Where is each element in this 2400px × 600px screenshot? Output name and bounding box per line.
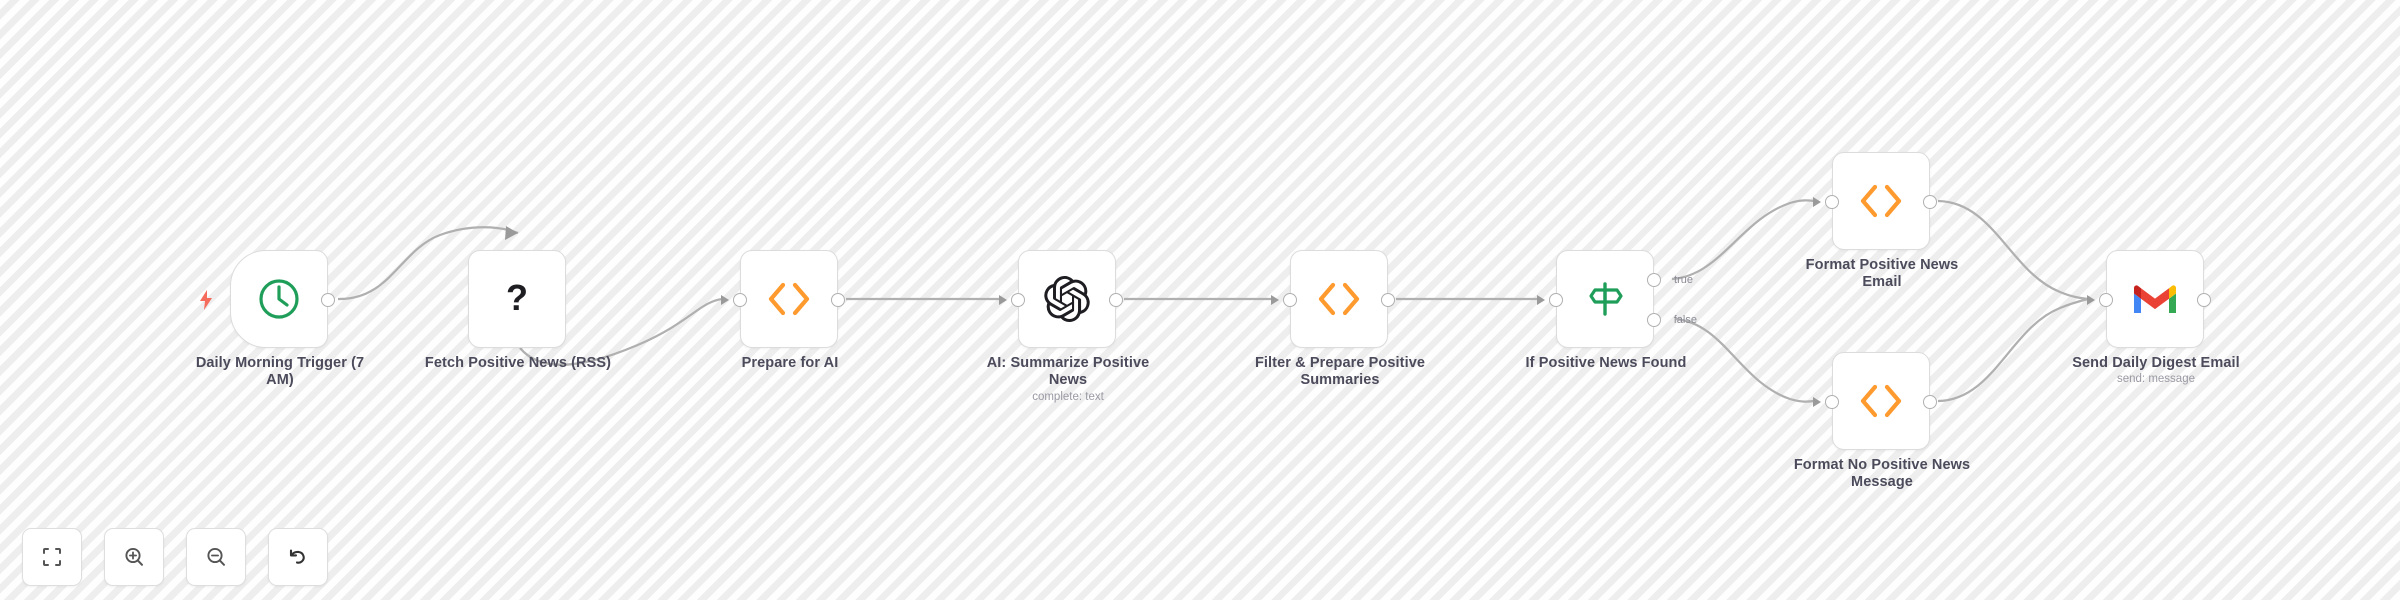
workflow-canvas[interactable]: Daily Morning Trigger (7 AM) ? Fetch Pos… bbox=[0, 0, 2400, 600]
node-prepare-for-ai[interactable]: Prepare for AI bbox=[740, 250, 838, 348]
edge-format-negative-to-gmail bbox=[1938, 299, 2088, 401]
input-endpoint[interactable] bbox=[1283, 293, 1297, 307]
svg-text:?: ? bbox=[506, 277, 528, 318]
question-mark-icon: ? bbox=[490, 272, 544, 326]
node-label: Daily Morning Trigger (7 AM) bbox=[185, 355, 375, 389]
output-endpoint-false[interactable] bbox=[1647, 313, 1661, 327]
zoom-out-icon bbox=[204, 545, 228, 569]
lightning-bolt-icon bbox=[197, 289, 215, 311]
output-endpoint-true[interactable] bbox=[1647, 273, 1661, 287]
node-label: If Positive News Found bbox=[1511, 355, 1701, 372]
input-arrowhead-icon bbox=[721, 295, 729, 305]
zoom-out-button[interactable] bbox=[186, 528, 246, 586]
connection-edges bbox=[0, 0, 2400, 600]
input-endpoint[interactable] bbox=[2099, 293, 2113, 307]
input-arrowhead-icon bbox=[1813, 197, 1821, 207]
zoom-to-fit-icon bbox=[40, 545, 64, 569]
output-endpoint[interactable] bbox=[321, 293, 335, 307]
input-arrowhead-icon bbox=[1537, 295, 1545, 305]
input-endpoint[interactable] bbox=[1549, 293, 1563, 307]
zoom-in-icon bbox=[122, 545, 146, 569]
node-label: Send Daily Digest Email bbox=[2061, 355, 2251, 372]
input-endpoint[interactable] bbox=[733, 293, 747, 307]
zoom-in-button[interactable] bbox=[104, 528, 164, 586]
node-ai-summarize-positive-news[interactable]: AI: Summarize Positive News complete: te… bbox=[1018, 250, 1116, 348]
node-label: Filter & Prepare Positive Summaries bbox=[1245, 355, 1435, 389]
reset-zoom-button[interactable] bbox=[268, 528, 328, 586]
output-endpoint[interactable] bbox=[1923, 195, 1937, 209]
code-icon bbox=[1312, 272, 1366, 326]
output-endpoint[interactable] bbox=[2197, 293, 2211, 307]
node-format-positive-news-email[interactable]: Format Positive News Email bbox=[1832, 152, 1930, 250]
input-arrowhead-icon bbox=[1813, 397, 1821, 407]
code-icon bbox=[1854, 174, 1908, 228]
node-format-no-positive-news-message[interactable]: Format No Positive News Message bbox=[1832, 352, 1930, 450]
code-icon bbox=[762, 272, 816, 326]
port-label-true: true bbox=[1674, 274, 1693, 286]
input-endpoint[interactable] bbox=[1825, 195, 1839, 209]
output-endpoint[interactable] bbox=[831, 293, 845, 307]
node-label: AI: Summarize Positive News bbox=[973, 355, 1163, 389]
node-daily-morning-trigger[interactable]: Daily Morning Trigger (7 AM) bbox=[230, 250, 328, 348]
input-endpoint[interactable] bbox=[1011, 293, 1025, 307]
output-endpoint[interactable] bbox=[1381, 293, 1395, 307]
node-sublabel: complete: text bbox=[973, 391, 1163, 403]
gmail-icon bbox=[2128, 272, 2182, 326]
output-endpoint[interactable] bbox=[1109, 293, 1123, 307]
input-arrowhead-icon bbox=[1271, 295, 1279, 305]
node-label: Format Positive News Email bbox=[1787, 257, 1977, 291]
clock-icon bbox=[252, 272, 306, 326]
arrowhead-rss-top bbox=[505, 226, 518, 240]
port-label-false: false bbox=[1674, 314, 1697, 326]
reset-icon bbox=[286, 545, 310, 569]
zoom-to-fit-button[interactable] bbox=[22, 528, 82, 586]
output-endpoint[interactable] bbox=[1923, 395, 1937, 409]
node-sublabel: send: message bbox=[2061, 373, 2251, 385]
code-icon bbox=[1854, 374, 1908, 428]
input-endpoint[interactable] bbox=[1825, 395, 1839, 409]
input-arrowhead-icon bbox=[2087, 295, 2095, 305]
node-fetch-positive-news-rss[interactable]: ? Fetch Positive News (RSS) bbox=[468, 250, 566, 348]
node-if-positive-news-found[interactable]: true false If Positive News Found bbox=[1556, 250, 1654, 348]
openai-icon bbox=[1040, 272, 1094, 326]
node-label: Prepare for AI bbox=[695, 355, 885, 372]
signpost-icon bbox=[1578, 272, 1632, 326]
node-filter-prepare-positive-summaries[interactable]: Filter & Prepare Positive Summaries bbox=[1290, 250, 1388, 348]
input-arrowhead-icon bbox=[999, 295, 1007, 305]
node-label: Format No Positive News Message bbox=[1787, 457, 1977, 491]
node-send-daily-digest-email[interactable]: Send Daily Digest Email send: message bbox=[2106, 250, 2204, 348]
canvas-toolbar bbox=[22, 528, 328, 586]
node-label: Fetch Positive News (RSS) bbox=[423, 355, 613, 372]
